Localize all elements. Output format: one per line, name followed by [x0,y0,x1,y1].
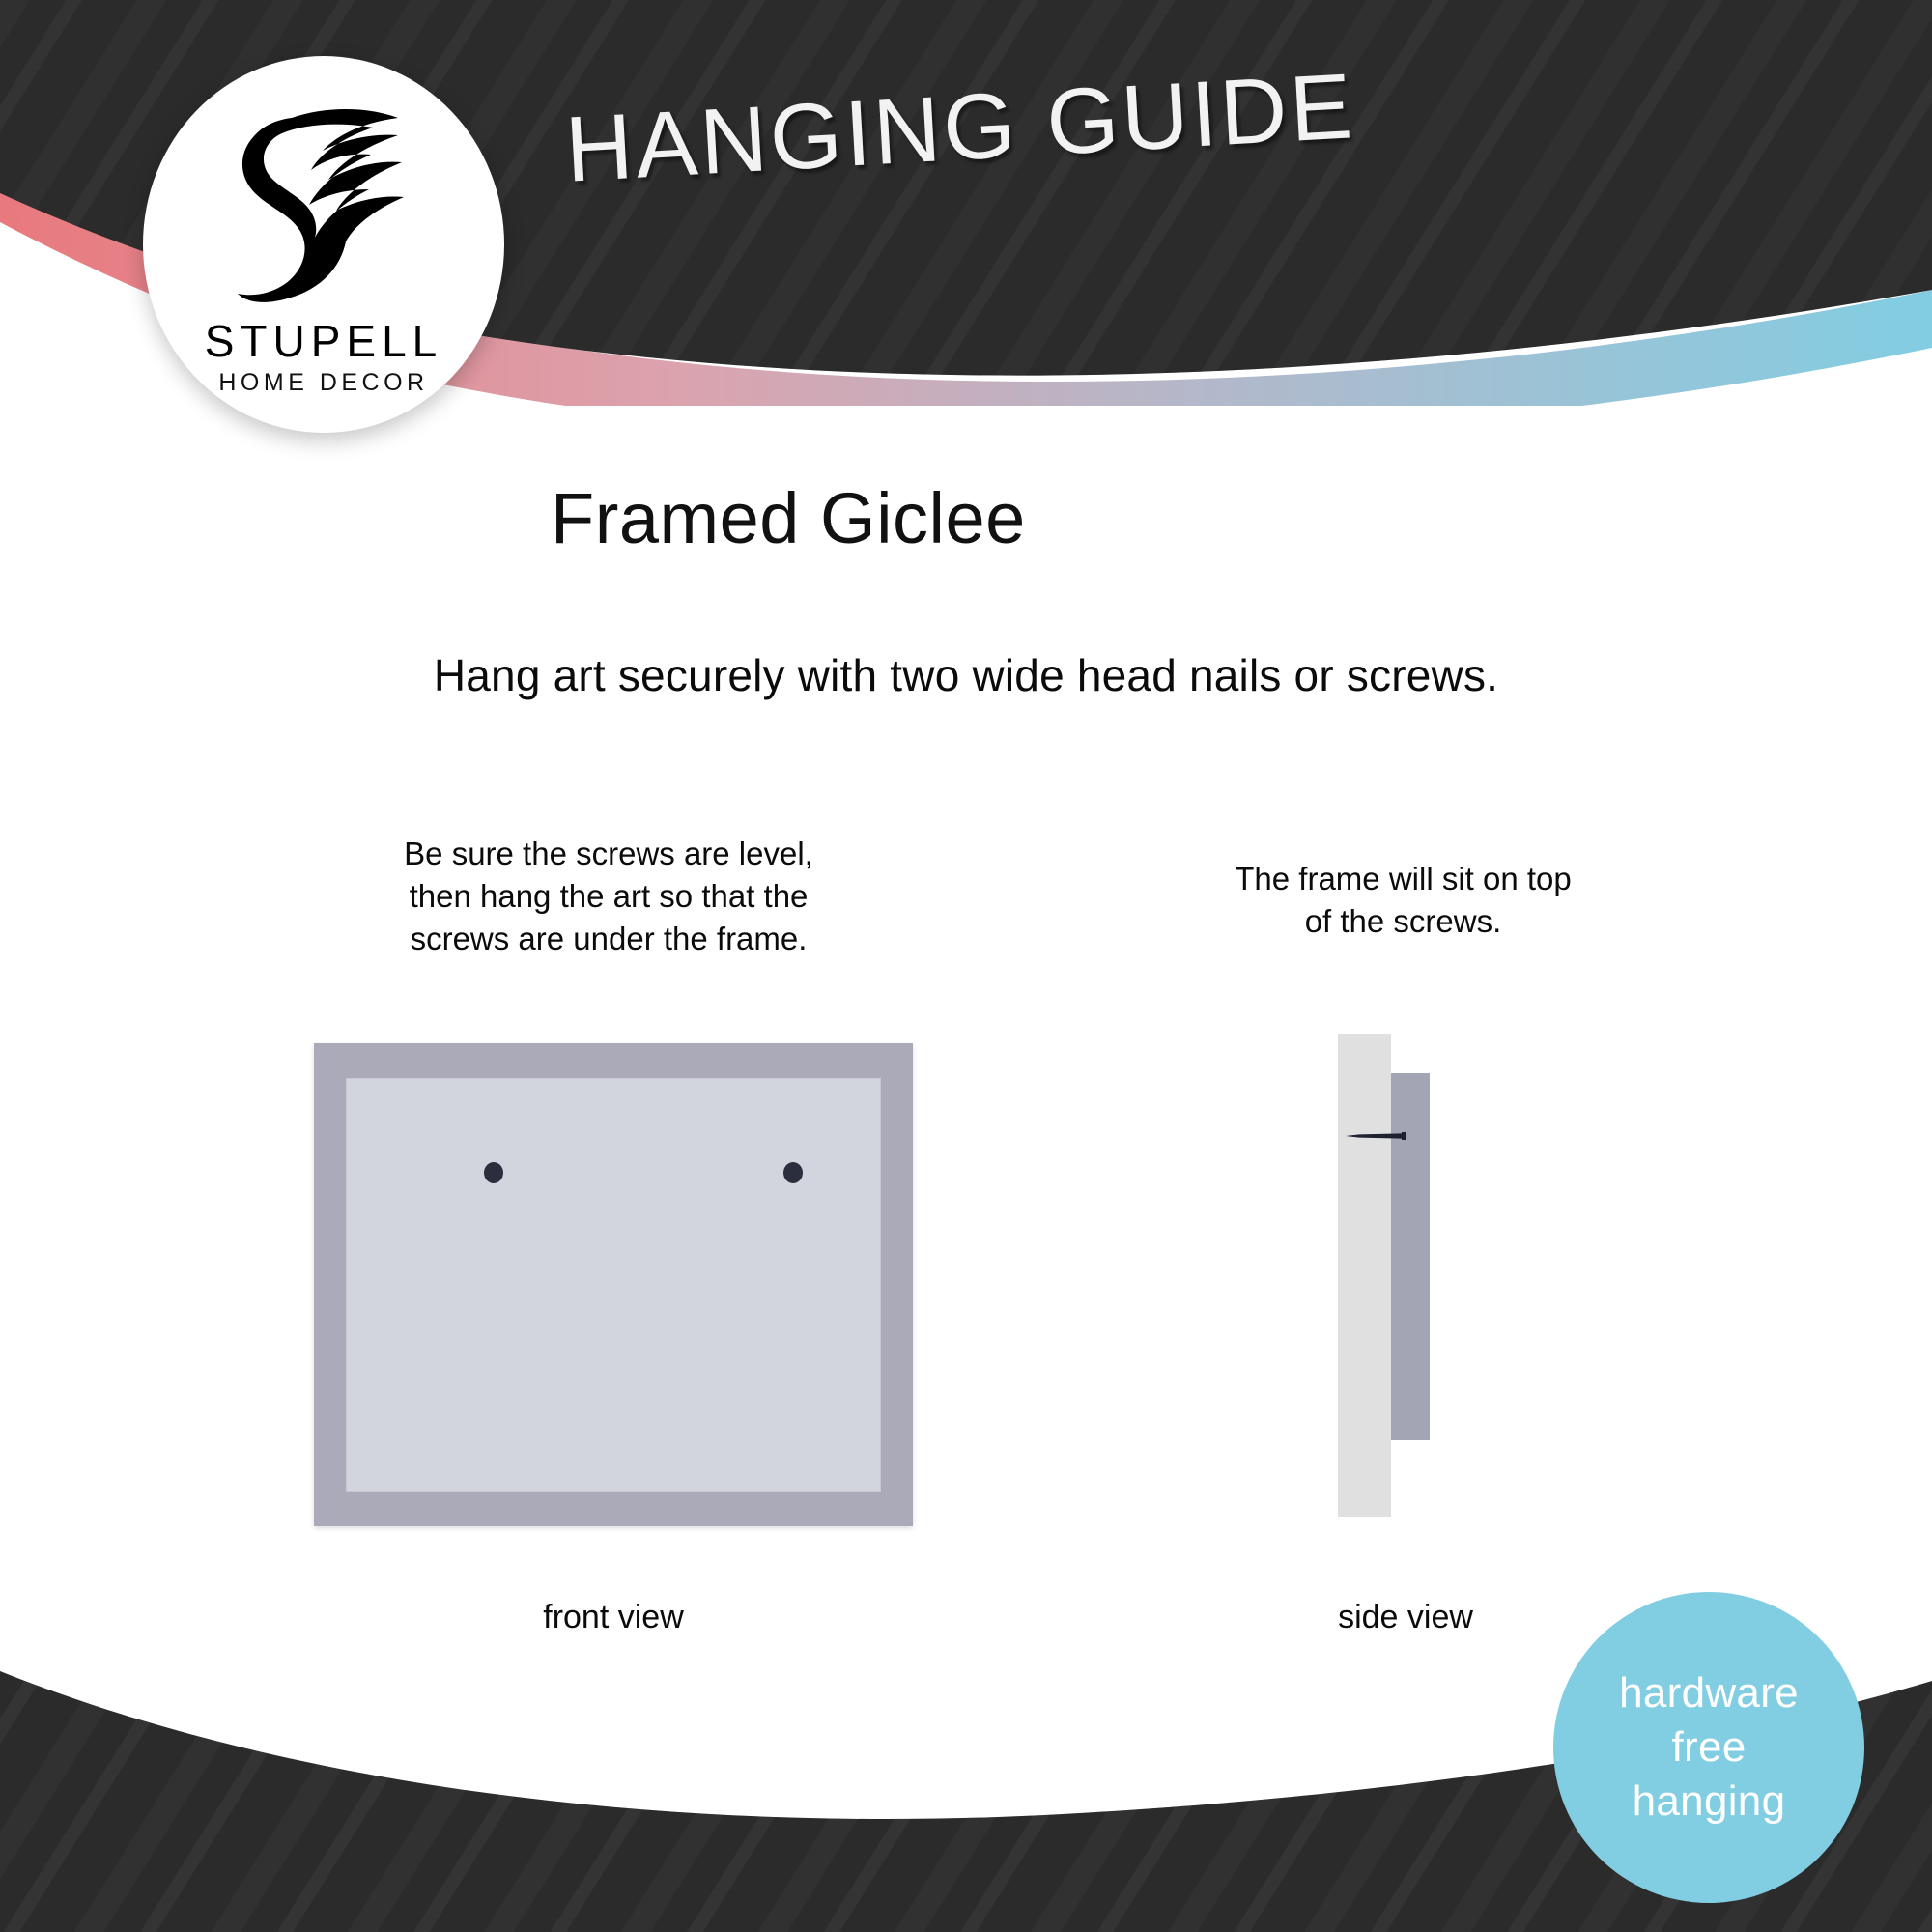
wall-cross-section [1338,1034,1391,1517]
hardware-free-hanging-badge: hardware free hanging [1553,1592,1864,1903]
nail-icon [1346,1132,1419,1140]
side-view-diagram [1338,1034,1483,1536]
badge-line-3: hanging [1633,1775,1786,1829]
picture-frame-mat [346,1078,881,1492]
side-caption-line-2: of the screws. [1125,900,1681,943]
screw-dot-left-icon [484,1162,503,1183]
product-name: Framed Giclee [551,477,1026,559]
brand-name: STUPELL [143,315,504,367]
front-caption-line-1: Be sure the screws are level, [270,833,947,875]
brand-tagline: HOME DECOR [143,369,504,397]
lead-instruction: Hang art securely with two wide head nai… [0,649,1932,701]
badge-line-1: hardware [1619,1666,1799,1720]
frame-cross-section [1391,1073,1430,1440]
front-caption-line-3: screws are under the frame. [270,918,947,960]
front-view-diagram [314,1043,913,1526]
badge-line-2: free [1671,1720,1746,1775]
front-caption-line-2: then hang the art so that the [270,875,947,918]
front-view-caption: Be sure the screws are level, then hang … [270,833,947,961]
stupell-swoosh-logo-icon [232,100,415,311]
side-caption-line-1: The frame will sit on top [1125,858,1681,900]
brand-logo-badge: STUPELL HOME DECOR [143,56,504,433]
screw-dot-right-icon [783,1162,803,1183]
side-view-caption: The frame will sit on top of the screws. [1125,858,1681,943]
